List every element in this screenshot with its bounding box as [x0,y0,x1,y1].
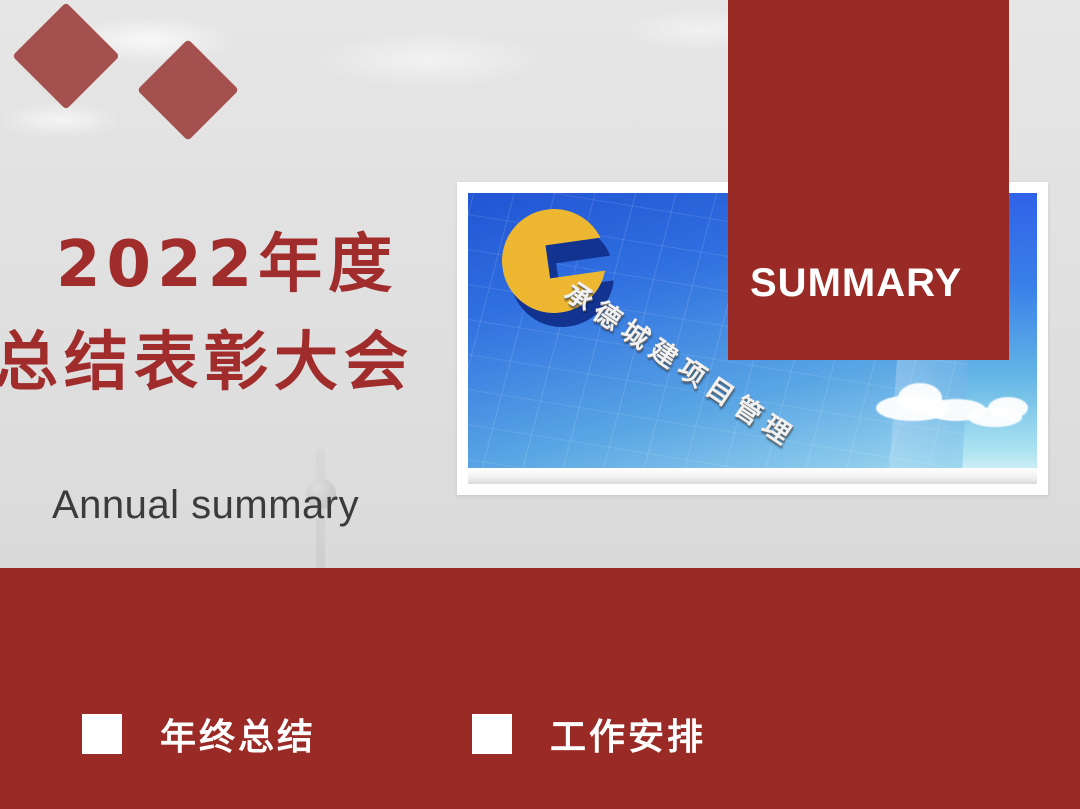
nav-item-label: 年终总结 [160,708,316,760]
square-marker-icon [82,714,122,754]
page-subtitle: Annual summary [52,483,359,528]
square-marker-icon [472,714,512,754]
title-block: 2022年度 总结表彰大会 [0,233,470,395]
cloud-icon [988,397,1028,419]
nav-item-year-end-summary[interactable]: 年终总结 [82,708,316,760]
nav-item-label: 工作安排 [550,708,706,760]
nav-item-work-plan[interactable]: 工作安排 [472,708,706,760]
page-title-line-2: 总结表彰大会 [0,331,470,395]
page-title-line-1: 2022年度 [56,233,470,297]
bottom-nav: 年终总结 工作安排 [82,708,706,760]
presentation-slide: 2022年度 总结表彰大会 Annual summary 承德城建项目管理 SU… [0,0,1080,809]
photo-ground-strip [468,468,1037,484]
summary-badge-block [728,0,1009,360]
bottom-red-band: 年终总结 工作安排 [0,568,1080,809]
summary-label: SUMMARY [750,261,962,306]
